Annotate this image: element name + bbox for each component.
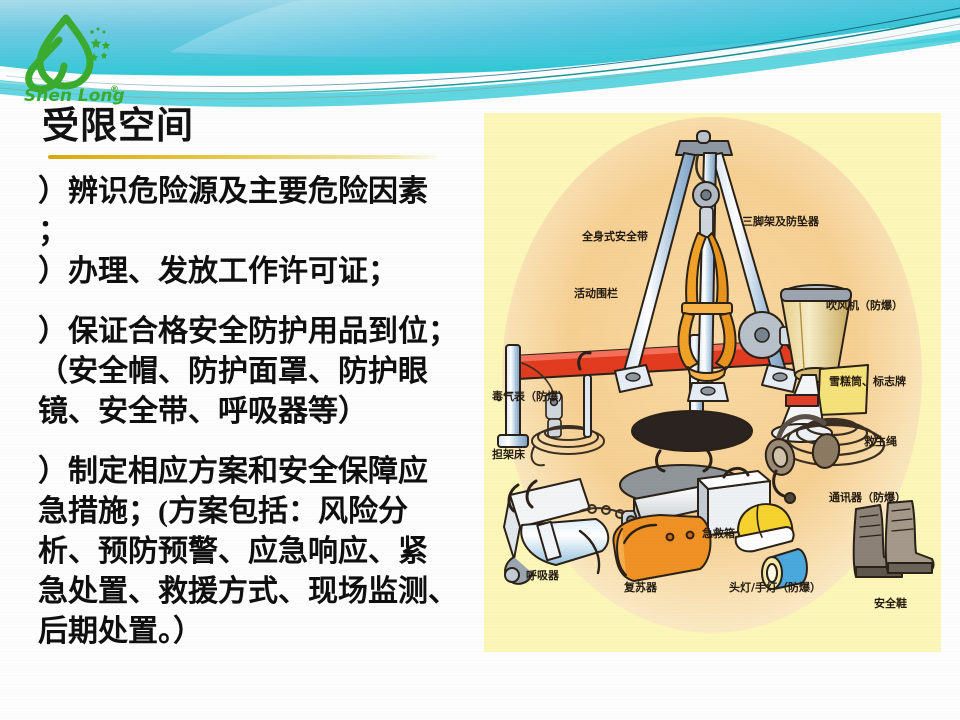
body-line: 析、预防预警、应急响应、紧	[38, 532, 480, 572]
label-safety-boots: 安全鞋	[874, 595, 907, 611]
label-first-aid-kit: 急救箱	[702, 525, 735, 541]
body-paragraph-3: ）制定相应方案和安全保障应 急措施；(方案包括：风险分 析、预防预警、应急响应、…	[38, 452, 480, 652]
label-resuscitator: 复苏器	[624, 579, 657, 595]
title-underline-rule	[48, 155, 438, 159]
body-line: ）办理、发放工作许可证；	[38, 252, 480, 292]
body-line: 急措施；(方案包括：风险分	[38, 492, 480, 532]
label-movable-fence: 活动围栏	[574, 285, 618, 301]
paragraph-spacer	[38, 292, 480, 312]
label-life-line: 救生绳	[864, 433, 897, 449]
label-communicator: 通讯器（防爆）	[829, 489, 906, 505]
sparkle-stars-icon	[90, 28, 111, 62]
body-line: ；	[38, 212, 480, 252]
illustration-panel: 全身式安全带 三脚架及防坠器 活动围栏 吹风机（防爆） 雪糕筒、标志牌 毒气表（…	[484, 113, 941, 652]
page-title: 受限空间	[42, 104, 194, 148]
body-line: 镜、安全带、呼吸器等）	[38, 392, 480, 432]
label-gas-detector: 毒气表（防爆）	[492, 388, 569, 404]
body-line: 后期处置。）	[38, 612, 480, 652]
slide-canvas: Shen Long ® 受限空间 ）辨识危险源及主要危险因素 ； ）办理、发放工…	[0, 0, 960, 720]
paragraph-spacer	[38, 432, 480, 452]
label-stretcher-bed: 担架床	[492, 446, 525, 462]
body-line: ）保证合格安全防护用品到位；	[38, 312, 480, 352]
brand-logo: Shen Long ®	[18, 12, 136, 108]
registered-mark-icon: ®	[110, 85, 119, 95]
body-line: ）辨识危险源及主要危险因素	[38, 172, 480, 212]
header-decoration-band	[0, 0, 960, 118]
label-full-body-harness: 全身式安全带	[582, 228, 648, 244]
body-paragraph-2: ）保证合格安全防护用品到位； （安全帽、防护面罩、防护眼 镜、安全带、呼吸器等）	[38, 312, 480, 432]
label-head-hand-lamp: 头灯/手灯（防爆）	[729, 579, 821, 595]
label-blower-explosion: 吹风机（防爆）	[826, 297, 903, 313]
body-line: ）制定相应方案和安全保障应	[38, 452, 480, 492]
body-line: （安全帽、防护面罩、防护眼	[38, 352, 480, 392]
label-breathing-apparatus: 呼吸器	[526, 567, 559, 583]
body-line: 急处置、救援方式、现场监测、	[38, 572, 480, 612]
body-paragraph-1: ）辨识危险源及主要危险因素 ； ）办理、发放工作许可证；	[38, 172, 480, 292]
label-cone-sign-board: 雪糕筒、标志牌	[829, 373, 906, 389]
droplet-leaf-icon	[29, 18, 90, 89]
label-tripod-fall-arrest: 三脚架及防坠器	[742, 213, 819, 229]
slide-body-text: ）辨识危险源及主要危险因素 ； ）办理、发放工作许可证； ）保证合格安全防护用品…	[38, 172, 480, 652]
